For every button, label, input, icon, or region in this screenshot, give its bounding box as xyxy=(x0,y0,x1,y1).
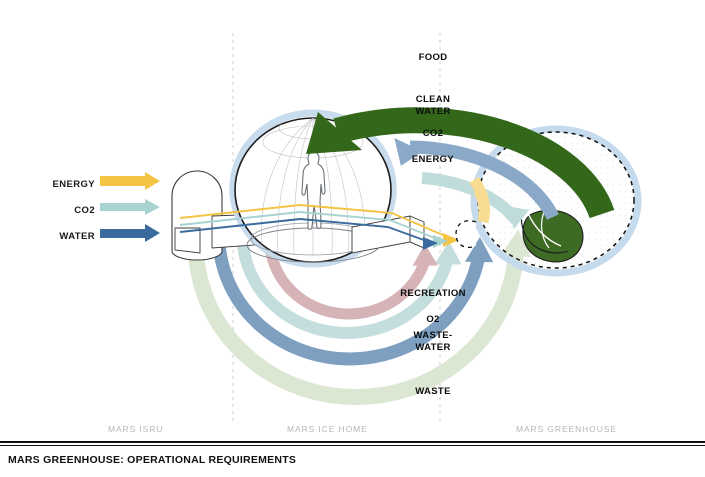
right-arrow-icon-co2 xyxy=(100,199,160,215)
zone-label-mars-isru: MARS ISRU xyxy=(108,424,163,434)
arc-label-recreation: RECREATION xyxy=(378,288,488,300)
right-arrow-icon-energy xyxy=(100,172,160,190)
arc-label-co2: CO2 xyxy=(387,128,479,140)
legend-label-energy: ENERGY xyxy=(20,179,95,190)
legend-label-co2: CO2 xyxy=(20,205,95,216)
arc-label-waste-water: WASTE- WATER xyxy=(387,330,479,353)
right-arrow-icon-water xyxy=(100,224,160,242)
arc-label-waste-water-line2: WATER xyxy=(387,342,479,354)
arc-label-energy: ENERGY xyxy=(387,154,479,166)
title-rule xyxy=(0,445,705,446)
arc-label-clean-water-line1: CLEAN xyxy=(387,94,479,106)
arc-label-o2: O2 xyxy=(387,314,479,326)
arc-label-clean-water: CLEAN WATER xyxy=(387,94,479,117)
legend-arrows xyxy=(100,172,168,244)
diagram-page: ENERGY CO2 WATER FOOD CLEAN WATER CO2 EN… xyxy=(0,0,705,475)
zone-label-mars-ice-home: MARS ICE HOME xyxy=(287,424,368,434)
arc-label-waste-water-line1: WASTE- xyxy=(387,330,479,342)
zone-label-mars-greenhouse: MARS GREENHOUSE xyxy=(516,424,617,434)
arc-label-waste: WASTE xyxy=(387,386,479,398)
arc-label-food: FOOD xyxy=(387,52,479,64)
legend-label-water: WATER xyxy=(20,231,95,242)
arc-label-clean-water-line2: WATER xyxy=(387,106,479,118)
page-title: MARS GREENHOUSE: OPERATIONAL REQUIREMENT… xyxy=(8,454,296,466)
title-bar: MARS GREENHOUSE: OPERATIONAL REQUIREMENT… xyxy=(0,441,705,477)
